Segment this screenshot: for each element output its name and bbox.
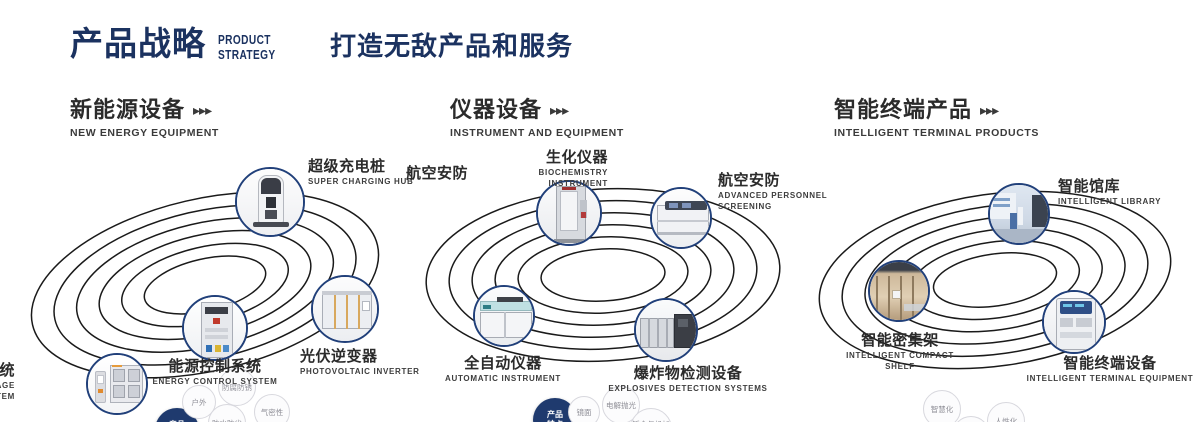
product-strategy-infographic: 产品战略 PRODUCT STRATEGY 打造无敌产品和服务 新能源设备▸▸▸… (0, 0, 1200, 422)
node-label-intelligent-compact-shelf: 智能密集架 INTELLIGENT COMPACT SHELF (800, 332, 1000, 372)
node-intelligent-compact-shelf[interactable] (868, 260, 930, 322)
chevron-triple-icon: ▸▸▸ (193, 102, 211, 119)
node-label-cn: 生化仪器 (476, 149, 608, 166)
section-title-instrument: 仪器设备▸▸▸ INSTRUMENT AND EQUIPMENT (450, 98, 624, 139)
node-label-cn: 智能密集架 (800, 332, 1000, 349)
node-label-energy-storage-system: 储能系统 ENERGY STORAGE SYSTEM (0, 362, 15, 402)
feature-bubble-label: 人性化 (995, 417, 1018, 422)
node-automatic-instrument[interactable] (473, 285, 535, 347)
node-label-en: BIOCHEMISTRY INSTRUMENT (476, 168, 608, 189)
section-title-intelligent-cn: 智能终端产品 (834, 98, 972, 122)
feature-bubble-humanization: 人性化 (987, 402, 1025, 422)
node-energy-control-system[interactable] (182, 295, 248, 361)
feature-bubble-label: 气密性 (261, 408, 284, 417)
feature-bubble-airtight: 气密性 (254, 394, 290, 422)
node-label-cn: 爆炸物检测设备 (568, 365, 808, 382)
section-title-instrument-cn: 仪器设备 (450, 98, 542, 122)
page-title: 产品战略 (70, 27, 206, 60)
node-explosives-detection-systems[interactable] (634, 298, 698, 362)
page-title-en-line2: STRATEGY (218, 48, 276, 63)
node-label-intelligent-library: 智能馆库 INTELLIGENT LIBRARY (1058, 178, 1200, 208)
node-label-en: EXPLOSIVES DETECTION SYSTEMS (568, 384, 808, 394)
feature-bubble-intelligentization: 智慧化 (923, 390, 961, 422)
section-title-new-energy-cn: 新能源设备 (70, 98, 185, 122)
node-label-cn: 能源控制系统 (95, 358, 335, 375)
feature-bubble-mirror: 镜面 (568, 396, 600, 422)
core-badge-line1: 产品 (547, 410, 563, 419)
cluster-intelligent-terminal: 智慧化 数字化 人性化 产品特点 智能馆库 INTELLIGENT LIB (790, 150, 1200, 400)
cluster-instrument: 产品特点 镜面 电解抛光 钣金与机加工结合 零缺陷 生化仪器 (398, 150, 802, 400)
cluster-new-energy: 产品特点 户外 防腐防锈 气密性 防水防尘 (0, 150, 400, 400)
section-title-intelligent: 智能终端产品▸▸▸ INTELLIGENT TERMINAL PRODUCTS (834, 98, 1039, 139)
node-super-charging-hub[interactable] (235, 167, 305, 237)
node-label-en: ENERGY CONTROL SYSTEM (95, 377, 335, 387)
chevron-triple-icon: ▸▸▸ (980, 102, 998, 119)
node-label-biochemistry-instrument: 生化仪器 BIOCHEMISTRY INSTRUMENT (476, 149, 608, 189)
section-title-new-energy-en: NEW ENERGY EQUIPMENT (70, 127, 219, 139)
node-label-en: INTELLIGENT LIBRARY (1058, 197, 1200, 207)
node-biochemistry-instrument[interactable] (536, 180, 602, 246)
node-photovoltaic-inverter[interactable] (311, 275, 379, 343)
feature-bubble-label: 户外 (192, 398, 207, 407)
section-title-new-energy: 新能源设备▸▸▸ NEW ENERGY EQUIPMENT (70, 98, 219, 139)
node-label-en: INTELLIGENT TERMINAL EQUIPMENT (1000, 374, 1200, 384)
node-label-explosives-detection-systems: 爆炸物检测设备 EXPLOSIVES DETECTION SYSTEMS (568, 365, 808, 395)
node-label-cn: 航空安防 (338, 165, 468, 182)
section-title-instrument-en: INSTRUMENT AND EQUIPMENT (450, 127, 624, 139)
node-label-cn: 智能馆库 (1058, 178, 1200, 195)
node-label-cn: 储能系统 (0, 362, 15, 379)
node-intelligent-terminal-equipment[interactable] (1042, 290, 1106, 354)
chevron-triple-icon: ▸▸▸ (550, 102, 568, 119)
section-title-intelligent-en: INTELLIGENT TERMINAL PRODUCTS (834, 127, 1039, 139)
node-label-energy-control-system: 能源控制系统 ENERGY CONTROL SYSTEM (95, 358, 335, 388)
node-advanced-personnel-screening[interactable] (650, 187, 712, 249)
feature-bubble-label: 镜面 (577, 408, 592, 417)
page-title-en-line1: PRODUCT (218, 33, 276, 48)
node-label-en: INTELLIGENT COMPACT SHELF (800, 351, 1000, 372)
feature-bubble-label: 电解抛光 (606, 401, 636, 410)
feature-bubble-label: 防水防尘 (212, 419, 242, 422)
page-header: 产品战略 PRODUCT STRATEGY 打造无敌产品和服务 (0, 0, 1200, 86)
page-title-en: PRODUCT STRATEGY (218, 33, 276, 62)
node-label-intelligent-terminal-equipment: 智能终端设备 INTELLIGENT TERMINAL EQUIPMENT (1000, 355, 1200, 385)
feature-bubble-label: 智慧化 (931, 405, 954, 414)
node-label-aviation-security-left: 航空安防 (338, 165, 468, 182)
node-intelligent-library[interactable] (988, 183, 1050, 245)
node-label-en: ENERGY STORAGE SYSTEM (0, 381, 15, 402)
page-tagline: 打造无敌产品和服务 (330, 33, 573, 59)
node-label-cn: 智能终端设备 (1000, 355, 1200, 372)
